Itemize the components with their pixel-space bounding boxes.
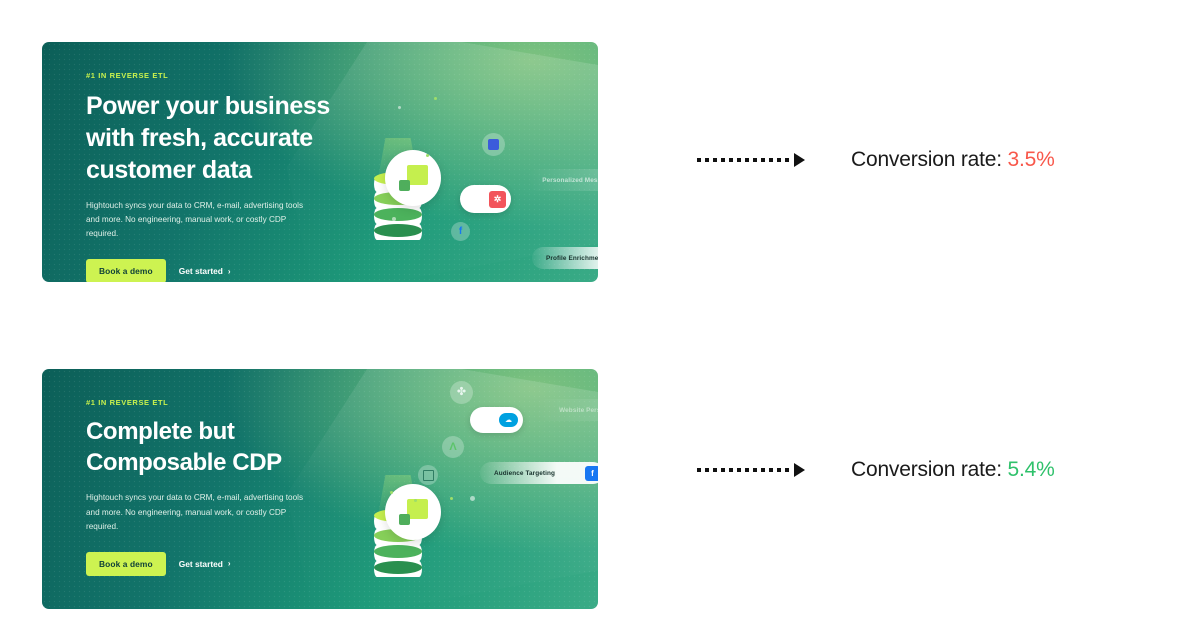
- decor-pip: [434, 97, 437, 100]
- pill-label: Audience Targeting: [494, 470, 555, 477]
- conversion-rate-value: 5.4%: [1008, 458, 1055, 481]
- amplitude-icon: Λ: [442, 436, 464, 458]
- facebook-icon: f: [585, 466, 598, 481]
- decor-pip: [414, 499, 417, 502]
- get-started-link[interactable]: Get started ›: [179, 559, 231, 569]
- ad-banner-variant-b[interactable]: #1 IN REVERSE ETL Complete but Composabl…: [42, 369, 598, 609]
- decor-pip: [390, 491, 393, 494]
- decor-pip: [450, 497, 453, 500]
- subcopy: Hightouch syncs your data to CRM, e-mail…: [86, 491, 318, 533]
- get-started-label: Get started: [179, 559, 223, 569]
- banner-illustration-b: ✤ ☁ Λ Website Personalization Audience T…: [332, 369, 598, 609]
- hightouch-logo-mark: [385, 484, 441, 540]
- conversion-rate-label: Conversion rate:: [851, 148, 1002, 171]
- get-started-link[interactable]: Get started ›: [179, 266, 231, 276]
- subcopy: Hightouch syncs your data to CRM, e-mail…: [86, 199, 318, 241]
- braze-icon: [482, 133, 505, 156]
- pill-profile-enrichment: Profile Enrichment ◎: [532, 247, 598, 269]
- pill-website-personalization: Website Personalization: [532, 399, 598, 421]
- book-a-demo-button[interactable]: Book a demo: [86, 552, 166, 576]
- banner-copy-a: #1 IN REVERSE ETL Power your business wi…: [86, 71, 348, 282]
- ad-banner-variant-a[interactable]: #1 IN REVERSE ETL Power your business wi…: [42, 42, 598, 282]
- conversion-rate-label: Conversion rate:: [851, 458, 1002, 481]
- cta-row: Book a demo Get started ›: [86, 259, 348, 282]
- chevron-right-icon: ›: [228, 267, 231, 276]
- decor-pip: [470, 496, 475, 501]
- mixpanel-icon: ✤: [450, 381, 473, 404]
- logo-square-small: [399, 514, 410, 525]
- hubspot-chip: ✲: [460, 185, 511, 213]
- eyebrow-label: #1 IN REVERSE ETL: [86, 71, 348, 80]
- pill-label: Profile Enrichment: [546, 255, 598, 262]
- pill-personalized-messaging: Personalized Messaging ▦: [527, 169, 598, 191]
- square-app-icon: [418, 465, 438, 485]
- conversion-rate-text-b: Conversion rate: 5.4%: [851, 458, 1055, 482]
- salesforce-chip: ☁: [470, 407, 523, 433]
- headline: Complete but Composable CDP: [86, 417, 348, 478]
- comparison-canvas: #1 IN REVERSE ETL Power your business wi…: [0, 0, 1200, 627]
- decor-pip: [426, 154, 429, 157]
- cta-row: Book a demo Get started ›: [86, 552, 348, 576]
- logo-square-large: [407, 165, 428, 185]
- banner-copy-b: #1 IN REVERSE ETL Complete but Composabl…: [86, 398, 348, 576]
- headline: Power your business with fresh, accurate…: [86, 90, 348, 186]
- salesforce-icon: ☁: [499, 413, 518, 427]
- chevron-right-icon: ›: [228, 559, 231, 568]
- annotation-variant-b: Conversion rate: 5.4%: [697, 458, 1055, 482]
- annotation-variant-a: Conversion rate: 3.5%: [697, 148, 1055, 172]
- pill-audience-targeting: Audience Targeting f: [480, 462, 598, 484]
- eyebrow-label: #1 IN REVERSE ETL: [86, 398, 348, 407]
- book-a-demo-button[interactable]: Book a demo: [86, 259, 166, 282]
- hubspot-icon: ✲: [489, 191, 506, 208]
- conversion-rate-text-a: Conversion rate: 3.5%: [851, 148, 1055, 172]
- decor-pip: [398, 106, 401, 109]
- dotted-arrow-icon: [697, 463, 805, 477]
- logo-square-small: [399, 180, 410, 191]
- pill-label: Website Personalization: [559, 407, 598, 414]
- dotted-arrow-icon: [697, 153, 805, 167]
- decor-pip: [392, 217, 396, 221]
- get-started-label: Get started: [179, 266, 223, 276]
- banner-illustration-a: ✲ f Personalized Messaging ▦ Profile Enr…: [332, 42, 598, 282]
- facebook-icon: f: [451, 222, 470, 241]
- conversion-rate-value: 3.5%: [1008, 148, 1055, 171]
- logo-square-large: [407, 499, 428, 519]
- pill-label: Personalized Messaging: [542, 177, 598, 184]
- hightouch-logo-mark: [385, 150, 441, 206]
